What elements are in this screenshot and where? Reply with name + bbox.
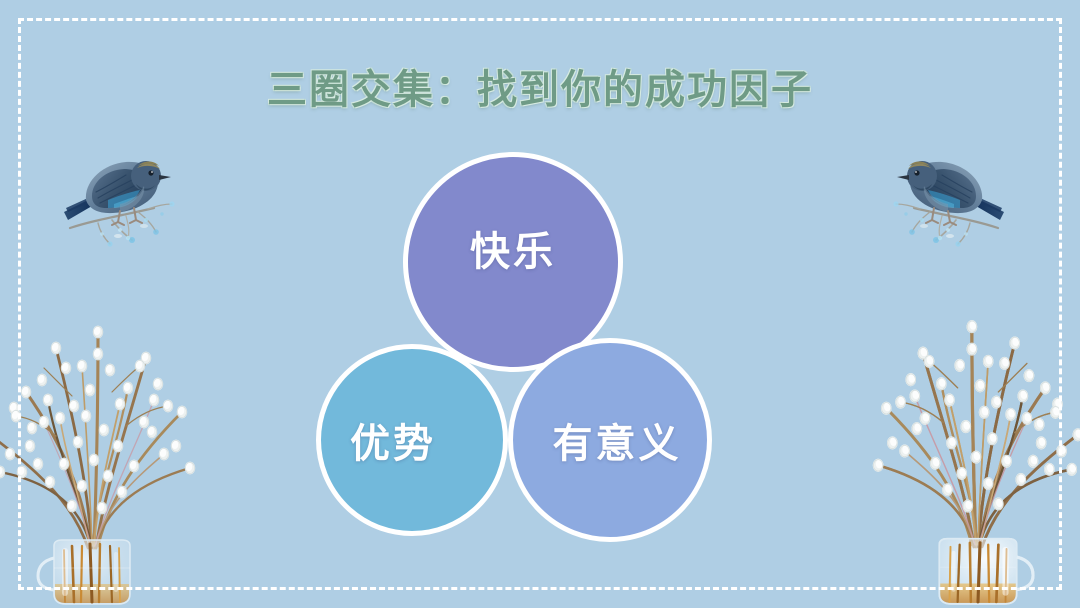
presentation-slide: 三圈交集：找到你的成功因子 优势 快乐 有意义 <box>0 0 1080 608</box>
venn-circle-meaning[interactable]: 有意义 <box>508 338 712 542</box>
venn-circle-strength[interactable]: 优势 <box>316 344 508 536</box>
page-title: 三圈交集：找到你的成功因子 <box>0 66 1080 114</box>
